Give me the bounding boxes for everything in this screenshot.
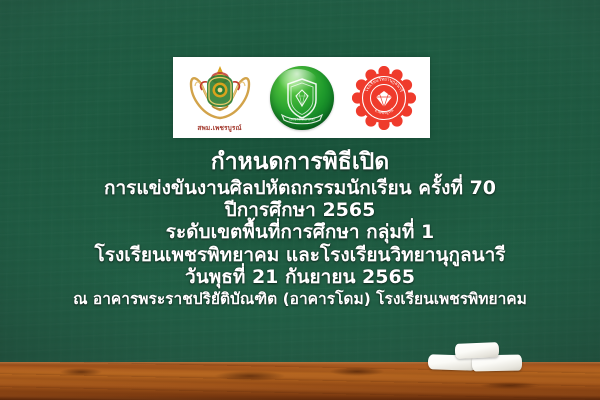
- logo-ministry-of-education: สพม.เพชรบูรณ์: [182, 59, 258, 137]
- chalk-piece: [455, 342, 500, 359]
- wood-knot: [330, 367, 384, 376]
- headline-line-5: โรงเรียนเพชรพิทยาคม และโรงเรียนวิทยานุกู…: [0, 245, 600, 265]
- headline-line-2: การแข่งขันงานศิลปหัตถกรรมนักเรียน ครั้งท…: [0, 178, 600, 198]
- logo-wittayanukulnari: โรงเรียนวิทยานุกูลนารี จ.เพชรบูรณ์: [346, 59, 422, 137]
- headline-line-4: ระดับเขตพื้นที่การศึกษา กลุ่มที่ 1: [0, 222, 600, 242]
- ministry-of-education-emblem-icon: [187, 62, 253, 122]
- wood-knot: [480, 382, 540, 389]
- chalkboard-poster: สพม.เพชรบูรณ์ เพชรพิทยาคม: [0, 0, 600, 400]
- svg-text:เพชรพิทยาคม: เพชรพิทยาคม: [289, 116, 314, 121]
- headline-line-7: ณ อาคารพระราชปริยัติบัณฑิต (อาคารโดม) โร…: [0, 291, 600, 308]
- headline-line-1: กำหนดการพิธีเปิด: [0, 150, 600, 175]
- phetchaphittayakhom-school-emblem-icon: เพชรพิทยาคม: [270, 66, 334, 130]
- logo-band: สพม.เพชรบูรณ์ เพชรพิทยาคม: [173, 57, 430, 138]
- wittayanukulnari-school-emblem-icon: โรงเรียนวิทยานุกูลนารี จ.เพชรบูรณ์: [352, 66, 416, 130]
- wood-knot: [60, 368, 102, 376]
- announcement-text: กำหนดการพิธีเปิด การแข่งขันงานศิลปหัตถกร…: [0, 150, 600, 308]
- wood-knot: [215, 371, 285, 381]
- headline-line-3: ปีการศึกษา 2565: [0, 200, 600, 220]
- logo-phetchaphittayakhom: เพชรพิทยาคม: [264, 59, 340, 137]
- logo-ministry-label: สพม.เพชรบูรณ์: [197, 123, 241, 133]
- headline-line-6: วันพุธที่ 21 กันยายน 2565: [0, 267, 600, 287]
